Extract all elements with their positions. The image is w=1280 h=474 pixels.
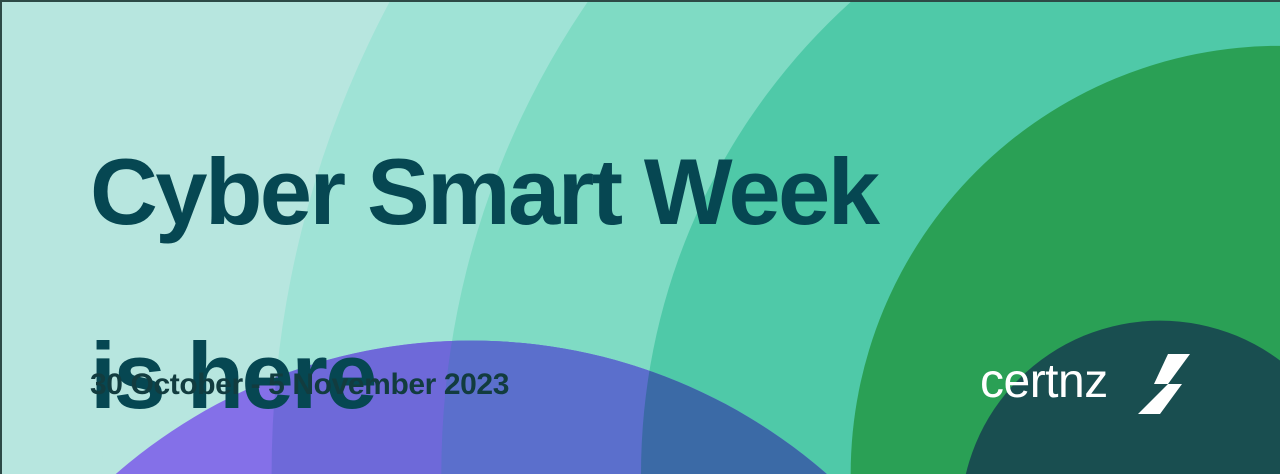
cyber-smart-week-banner: Cyber Smart Week is here 30 October - 5 … — [0, 0, 1280, 474]
certnz-arrow-icon — [1138, 354, 1192, 414]
certnz-wordmark: certnz — [980, 358, 1108, 406]
certnz-logo[interactable]: certnz — [980, 354, 1192, 416]
